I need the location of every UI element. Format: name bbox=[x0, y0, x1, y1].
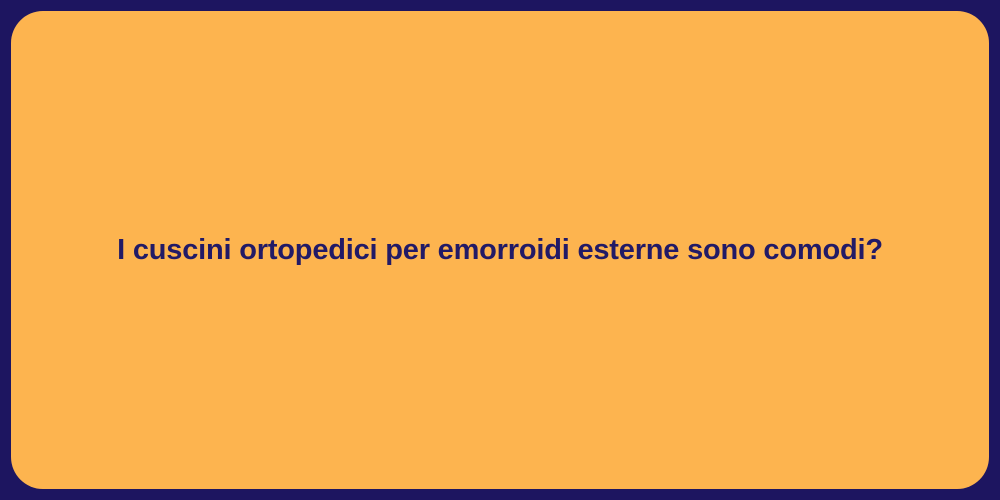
headline-card: I cuscini ortopedici per emorroidi ester… bbox=[11, 11, 989, 489]
headline-container: I cuscini ortopedici per emorroidi ester… bbox=[11, 232, 989, 270]
page-title: I cuscini ortopedici per emorroidi ester… bbox=[117, 232, 883, 270]
page-background: I cuscini ortopedici per emorroidi ester… bbox=[0, 0, 1000, 500]
